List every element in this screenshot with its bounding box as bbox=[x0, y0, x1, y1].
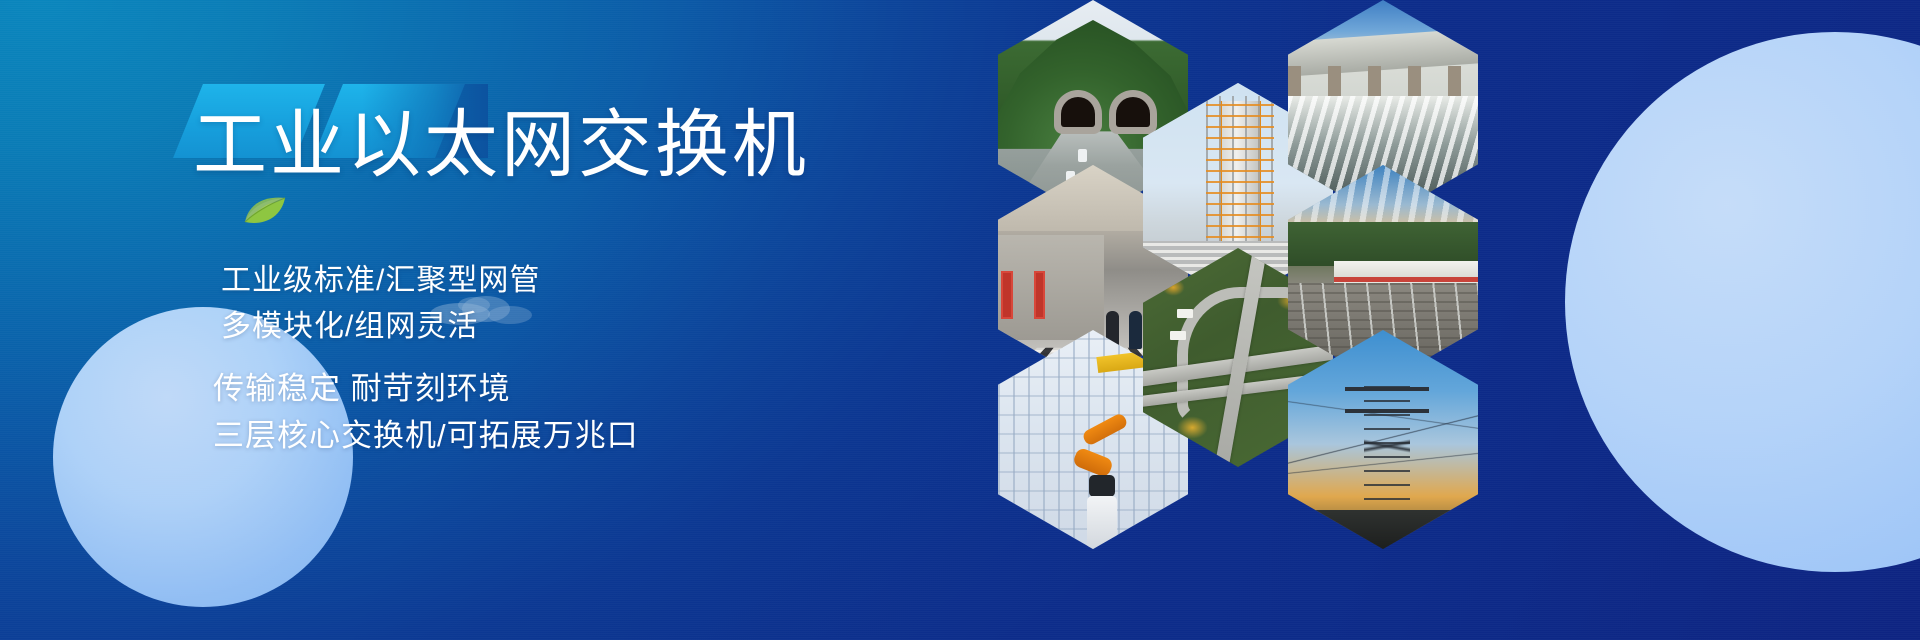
feature-list-secondary: 传输稳定 耐苛刻环境 三层核心交换机/可拓展万兆口 bbox=[213, 365, 639, 459]
train-shape bbox=[998, 235, 1104, 340]
tunnel-portal-icon bbox=[1116, 97, 1150, 127]
car-shape bbox=[1078, 149, 1087, 162]
page-title: 工业以太网交换机 bbox=[193, 108, 809, 182]
hexagon-photo-collage bbox=[940, 0, 1920, 640]
pylon-crossarm-shape bbox=[1345, 409, 1429, 413]
product-banner: 工业以太网交换机 工业级标准/汇聚型网管 多模块化/组网灵活 传输稳定 耐苛刻环… bbox=[0, 0, 1920, 640]
mountain-shape bbox=[998, 9, 1188, 149]
transmission-pylon-shape bbox=[1364, 378, 1410, 514]
feature-item: 多模块化/组网灵活 bbox=[221, 304, 540, 350]
feature-item: 工业级标准/汇聚型网管 bbox=[221, 258, 540, 304]
pylon-crossarm-shape bbox=[1345, 387, 1429, 391]
leaf-icon bbox=[243, 196, 287, 226]
title-block: 工业以太网交换机 bbox=[193, 108, 809, 182]
person-shape bbox=[1129, 311, 1142, 349]
robot-joint-shape bbox=[1089, 475, 1115, 497]
ground-shape bbox=[1288, 510, 1478, 549]
lattice-scaffold-shape bbox=[1206, 96, 1274, 249]
train-door-shape bbox=[1001, 271, 1013, 319]
feature-item: 三层核心交换机/可拓展万兆口 bbox=[213, 412, 639, 459]
robot-base-shape bbox=[1087, 496, 1117, 549]
truck-shape bbox=[1177, 309, 1193, 318]
tree-line-shape bbox=[1288, 222, 1478, 266]
feature-list-primary: 工业级标准/汇聚型网管 多模块化/组网灵活 bbox=[221, 258, 540, 350]
train-door-shape bbox=[1034, 271, 1046, 319]
feature-item: 传输稳定 耐苛刻环境 bbox=[213, 365, 639, 412]
tunnel-portal-icon bbox=[1061, 97, 1095, 127]
truck-shape bbox=[1170, 331, 1186, 340]
